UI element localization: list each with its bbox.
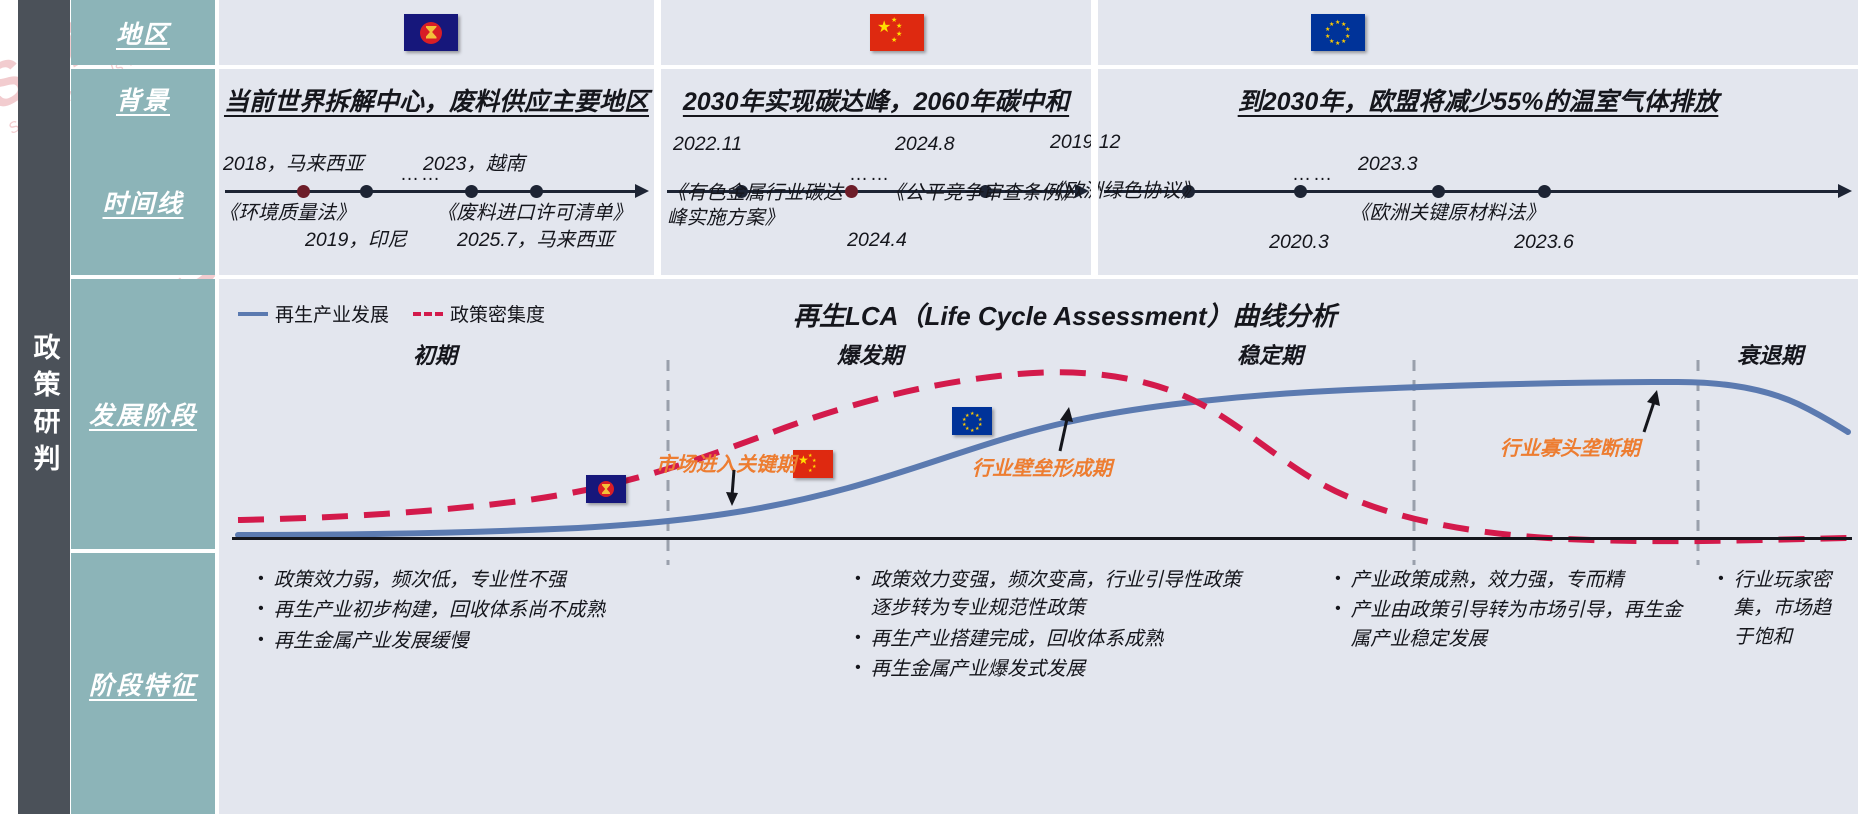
list-item: •再生产业搭建完成，回收体系成熟 bbox=[855, 625, 1255, 653]
feature-text: 再生产业搭建完成，回收体系成熟 bbox=[871, 625, 1255, 653]
legend-dashed-line-icon bbox=[413, 312, 443, 316]
bullet-icon: • bbox=[855, 655, 861, 683]
eu-stars-ring: ★★ ★★ ★★ ★★ ★★ bbox=[962, 411, 982, 431]
feature-text: 产业由政策引导转为市场引导，再生金属产业稳定发展 bbox=[1351, 596, 1695, 653]
rowheader-region: 地区 bbox=[71, 0, 215, 65]
feature-text: 行业玩家密集，市场趋于饱和 bbox=[1734, 566, 1848, 651]
feature-text: 再生金属产业发展缓慢 bbox=[274, 627, 648, 655]
annotation-arrow-down-icon bbox=[718, 468, 748, 508]
rowheader-background: 背景 bbox=[71, 69, 215, 129]
panel-divider bbox=[1091, 0, 1098, 279]
headline-eu: 到2030年，欧盟将减少55%的温室气体排放 bbox=[1098, 82, 1858, 118]
chart-flag-asean bbox=[586, 475, 626, 503]
eu-stars-ring: ★★ ★★ ★★ ★★ ★★ bbox=[1325, 20, 1351, 46]
spine-label: 政策研判 bbox=[28, 333, 59, 481]
list-item: •行业玩家密集，市场趋于饱和 bbox=[1718, 566, 1848, 651]
list-item: •产业政策成熟，效力强，专而精 bbox=[1335, 566, 1695, 594]
timeline-date: 2025.7，马来西亚 bbox=[457, 228, 657, 252]
features-china: •政策效力变强，频次变高，行业引导性政策逐步转为专业规范性政策 •再生产业搭建完… bbox=[855, 566, 1255, 685]
bullet-icon: • bbox=[855, 625, 861, 653]
rowheader-timeline: 时间线 bbox=[71, 129, 215, 275]
eu-flag-cell: ★★ ★★ ★★ ★★ ★★ bbox=[1311, 14, 1365, 51]
rowheader-features: 阶段特征 bbox=[71, 553, 215, 814]
rowheader-stage: 发展阶段 bbox=[71, 279, 215, 549]
panel-divider bbox=[219, 65, 1858, 69]
bullet-icon: • bbox=[1718, 566, 1724, 651]
rowheader-features-label: 阶段特征 bbox=[89, 666, 197, 702]
timeline-date: 2023.3 bbox=[1350, 152, 1630, 176]
china-flag-icon: ★ ★ ★ ★ ★ bbox=[870, 14, 924, 51]
list-item: •再生产业初步构建，回收体系尚不成熟 bbox=[258, 596, 648, 624]
timeline-date: 2023.6 bbox=[1444, 230, 1644, 254]
timeline-date: 2018，马来西亚 bbox=[215, 152, 400, 176]
headline-asean: 当前世界拆解中心，废料供应主要地区 bbox=[219, 82, 654, 118]
chart-legend: 再生产业发展 政策密集度 bbox=[238, 300, 545, 327]
rowheader-background-label: 背景 bbox=[116, 81, 170, 117]
feature-text: 产业政策成熟，效力强，专而精 bbox=[1351, 566, 1695, 594]
timeline-doc: 《欧洲绿色协议》 bbox=[1044, 179, 1204, 203]
list-item: •政策效力变强，频次变高，行业引导性政策逐步转为专业规范性政策 bbox=[855, 566, 1255, 623]
region-panel-eu bbox=[1098, 0, 1858, 65]
timeline-date: 2023，越南 bbox=[423, 152, 658, 176]
legend-item-industry: 再生产业发展 bbox=[238, 300, 389, 327]
timeline-ellipsis: …… bbox=[400, 164, 442, 186]
bullet-icon: • bbox=[258, 627, 264, 655]
features-eu: •产业政策成熟，效力强，专而精 •产业由政策引导转为市场引导，再生金属产业稳定发… bbox=[1335, 566, 1695, 655]
timeline-ellipsis: …… bbox=[1292, 164, 1334, 186]
legend-item-policy: 政策密集度 bbox=[413, 300, 545, 327]
bullet-icon: • bbox=[1335, 596, 1341, 653]
timeline-date: 2019.12 bbox=[1044, 130, 1204, 154]
timeline-date: 2020.3 bbox=[1174, 230, 1424, 254]
timeline-date: 2019，印尼 bbox=[305, 228, 435, 252]
eu-flag-icon: ★★ ★★ ★★ ★★ ★★ bbox=[952, 407, 992, 435]
panel-divider bbox=[654, 0, 661, 279]
rowheader-region-label: 地区 bbox=[116, 15, 170, 51]
annotation-industry-barrier: 行业壁垒形成期 bbox=[972, 452, 1112, 481]
china-flag-cell: ★ ★ ★ ★ ★ bbox=[870, 14, 924, 51]
bullet-icon: • bbox=[258, 596, 264, 624]
rowheader-timeline-label: 时间线 bbox=[102, 184, 183, 220]
chart-flag-eu: ★★ ★★ ★★ ★★ ★★ bbox=[952, 407, 992, 435]
features-decline: •行业玩家密集，市场趋于饱和 bbox=[1718, 566, 1848, 653]
asean-flag-icon bbox=[586, 475, 626, 503]
asean-flag-cell bbox=[404, 14, 458, 51]
legend-label: 再生产业发展 bbox=[275, 300, 389, 327]
timeline-date: 2024.4 bbox=[667, 228, 1087, 252]
timeline-dot bbox=[1294, 185, 1307, 198]
policy-spine: 政策研判 bbox=[18, 0, 70, 814]
timeline-date: 2022.11 bbox=[667, 132, 857, 156]
china-flag-icon: ★ ★ ★ ★ ★ bbox=[793, 450, 833, 478]
bullet-icon: • bbox=[1335, 566, 1341, 594]
features-asean: •政策效力弱，频次低，专业性不强 •再生产业初步构建，回收体系尚不成熟 •再生金… bbox=[258, 566, 648, 657]
bullet-icon: • bbox=[855, 566, 861, 623]
legend-label: 政策密集度 bbox=[450, 300, 545, 327]
annotation-oligopoly: 行业寡头垄断期 bbox=[1500, 432, 1640, 461]
list-item: •再生金属产业发展缓慢 bbox=[258, 627, 648, 655]
eu-flag-icon: ★★ ★★ ★★ ★★ ★★ bbox=[1311, 14, 1365, 51]
list-item: •产业由政策引导转为市场引导，再生金属产业稳定发展 bbox=[1335, 596, 1695, 653]
list-item: •政策效力弱，频次低，专业性不强 bbox=[258, 566, 648, 594]
list-item: •再生金属产业爆发式发展 bbox=[855, 655, 1255, 683]
chart-baseline bbox=[232, 537, 1852, 540]
feature-text: 政策效力变强，频次变高，行业引导性政策逐步转为专业规范性政策 bbox=[871, 566, 1255, 623]
panel-divider bbox=[219, 275, 1858, 279]
panel-divider bbox=[215, 0, 219, 814]
feature-text: 政策效力弱，频次低，专业性不强 bbox=[274, 566, 648, 594]
asean-flag-icon bbox=[404, 14, 458, 51]
annotation-arrow-up-icon bbox=[1634, 388, 1664, 434]
timeline-ellipsis: …… bbox=[849, 164, 891, 186]
legend-solid-line-icon bbox=[238, 312, 268, 316]
bullet-icon: • bbox=[258, 566, 264, 594]
feature-text: 再生产业初步构建，回收体系尚不成熟 bbox=[274, 596, 648, 624]
rowheader-stage-label: 发展阶段 bbox=[89, 396, 197, 432]
feature-text: 再生金属产业爆发式发展 bbox=[871, 655, 1255, 683]
chart-title: 再生LCA（Life Cycle Assessment）曲线分析 bbox=[793, 296, 1337, 333]
timeline-arrow-icon bbox=[1838, 184, 1852, 198]
annotation-arrow-up-icon bbox=[1048, 405, 1078, 453]
chart-flag-china: ★ ★ ★ ★ ★ bbox=[793, 450, 833, 478]
